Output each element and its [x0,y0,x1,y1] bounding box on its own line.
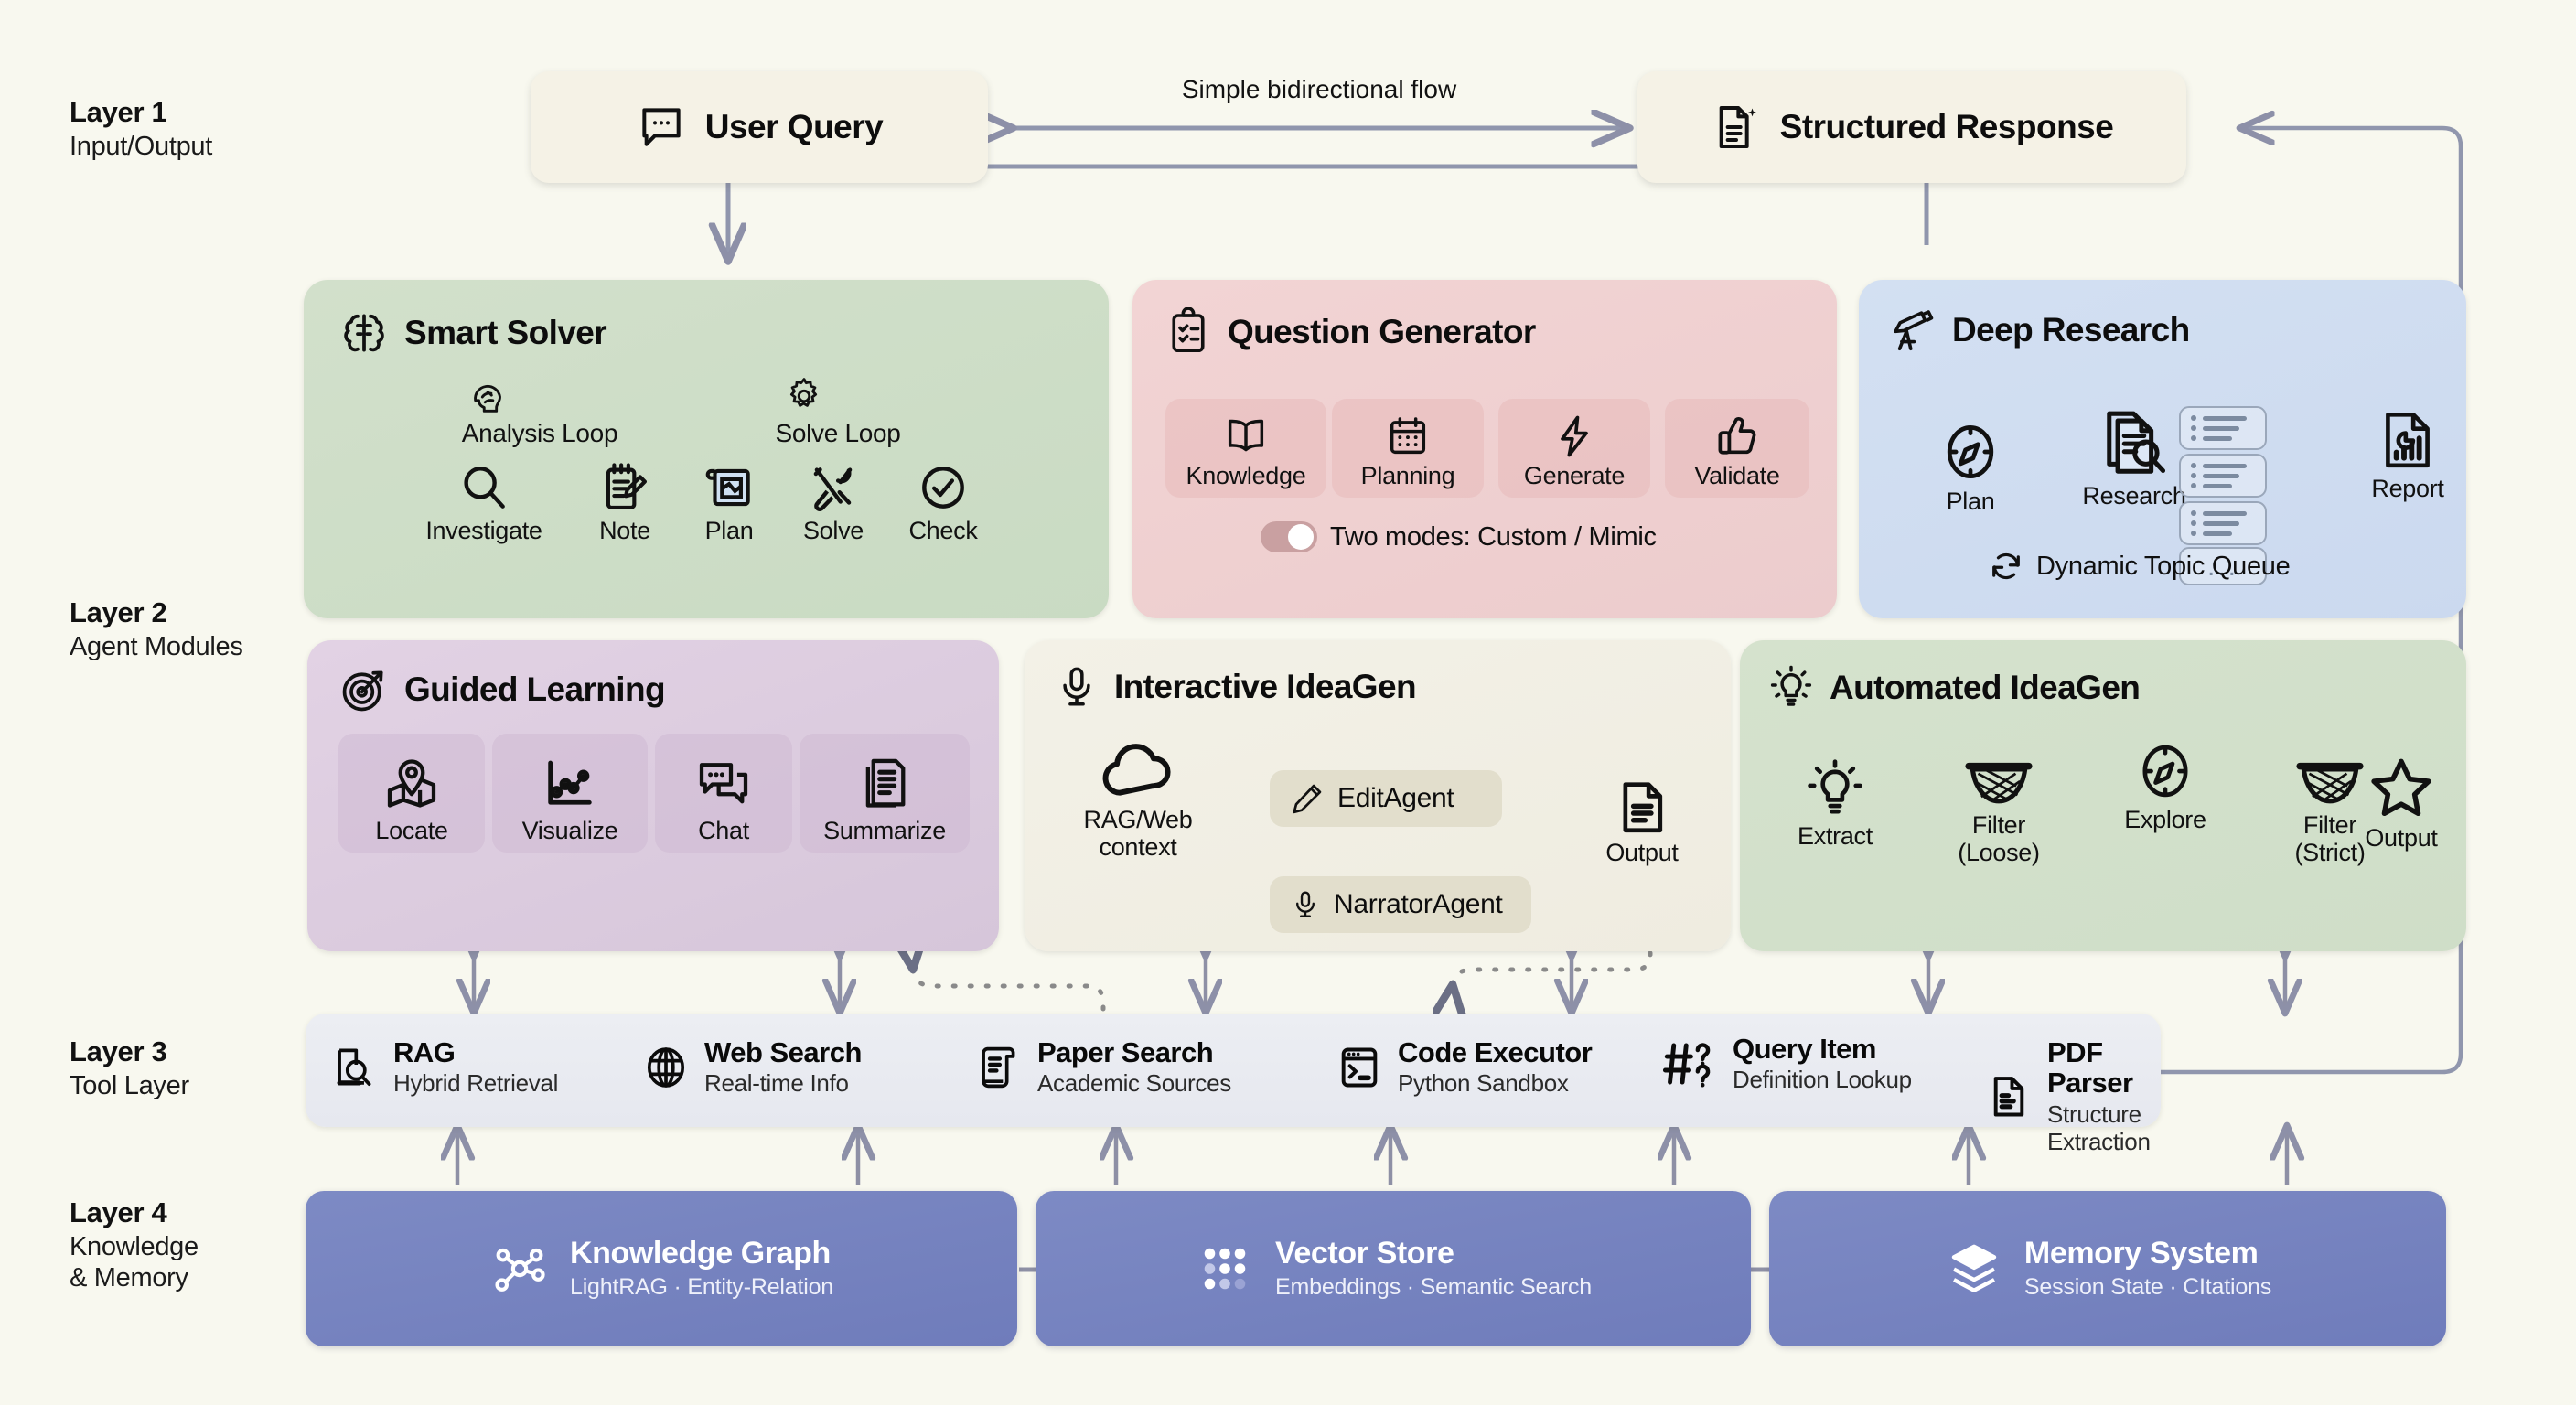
tool-code-executor[interactable]: Code Executor Python Sandbox [1336,1037,1592,1098]
brain-icon [338,307,390,359]
step-label: Research [2082,483,2185,510]
document-sparkle-icon [1711,102,1762,153]
interactive-ideagen-title: Interactive IdeaGen [1114,668,1416,706]
target-dart-icon [338,664,390,715]
step-label: Investigate [425,518,542,545]
agent-narrator[interactable]: NarratorAgent [1270,876,1531,933]
step-label: Explore [2124,807,2206,834]
check-circle-icon [915,459,971,516]
smart-solver-panel[interactable]: Smart Solver Analysis Loop Investigate [304,280,1109,618]
question-generator-header: Question Generator [1164,307,1536,357]
guided-learning-title: Guided Learning [404,670,665,709]
star-icon [2366,752,2437,823]
store-sub: Embeddings · Semantic Search [1275,1274,1592,1301]
smart-solver-header: Smart Solver [338,307,606,359]
cloud-icon [1096,737,1180,805]
layer-3-number: Layer 3 [70,1035,189,1068]
step-label: Extract [1798,823,1873,851]
tool-pdf-parser[interactable]: PDF Parser Structure Extraction [1985,1037,2161,1156]
tool-sub: Real-time Info [704,1070,862,1098]
dot-matrix-icon [1195,1239,1255,1299]
refresh-cycle-icon [1989,549,2023,584]
store-name: Vector Store [1275,1237,1592,1271]
pencil-icon [1290,781,1325,816]
line-chart-icon [541,755,599,813]
guided-learning-header: Guided Learning [338,664,665,715]
automated-ideagen-panel[interactable]: Automated IdeaGen Extract Filter (Lo [1740,640,2466,951]
step-label: Check [908,518,977,545]
topic-queue-card[interactable] [2179,454,2267,498]
notepad-pencil-icon [596,459,653,516]
toggle-switch-icon[interactable] [1261,521,1317,552]
layer-2-number: Layer 2 [70,596,243,629]
head-brain-icon [468,376,510,418]
layer-1-label: Layer 1 Input/Output [70,96,212,162]
telescope-icon [1888,306,1937,355]
step-label: Plan [705,518,754,545]
layer-3-title: Tool Layer [70,1070,189,1101]
iig-source-context[interactable]: RAG/Web context [1056,737,1220,861]
structured-response-label: Structured Response [1780,108,2114,146]
agent-label: NarratorAgent [1334,889,1503,920]
qg-step-generate[interactable]: Generate [1498,399,1650,498]
microphone-icon [1054,664,1100,710]
layer-2-title: Agent Modules [70,631,243,662]
documents-magnifier-icon [2095,402,2173,481]
layers-stack-icon [1944,1239,2004,1299]
documents-icon [855,755,914,813]
compass-icon [2131,737,2199,805]
aig-step-filter-loose[interactable]: Filter (Loose) [1930,754,2067,866]
tool-name: Web Search [704,1037,862,1067]
tool-query-item[interactable]: Query Item Definition Lookup [1661,1034,1912,1094]
layer-4-label: Layer 4 Knowledge & Memory [70,1196,199,1293]
deep-research-header: Deep Research [1888,306,2190,355]
qg-step-planning[interactable]: Planning [1332,399,1484,498]
chat-bubble-icon [636,102,687,153]
tool-sub: Hybrid Retrieval [393,1070,558,1098]
vector-store-box[interactable]: Vector Store Embeddings · Semantic Searc… [1036,1191,1751,1346]
step-label: Planning [1361,462,1455,490]
structured-response-box[interactable]: Structured Response [1637,71,2186,183]
output-label: Output [1605,840,1678,867]
store-name: Knowledge Graph [570,1237,833,1271]
layer-4-number: Layer 4 [70,1196,199,1229]
layer-1-title: Input/Output [70,131,212,162]
layer-4-title: Knowledge & Memory [70,1231,199,1293]
step-label: Summarize [823,817,946,845]
chat-bubbles-icon [694,755,753,813]
topic-queue-card[interactable] [2179,406,2267,450]
solver-step-plan[interactable]: Plan [670,459,789,545]
step-label: Validate [1694,462,1779,490]
compass-icon [1936,417,2005,487]
architecture-diagram: Layer 1 Input/Output Layer 2 Agent Modul… [0,0,2576,1405]
solve-loop-caption: Solve Loop [737,419,939,448]
step-label: Plan [1947,488,1995,516]
tool-name: Paper Search [1037,1037,1231,1067]
store-sub: Session State · CItations [2024,1274,2271,1301]
tool-rag[interactable]: RAG Hybrid Retrieval [331,1037,558,1098]
interactive-ideagen-panel[interactable]: Interactive IdeaGen RAG/Web context Edit… [1025,640,1731,951]
aig-step-explore[interactable]: Explore [2097,737,2234,834]
solver-step-check[interactable]: Check [875,459,1012,545]
magnifier-icon [456,459,512,516]
qg-modes-note[interactable]: Two modes: Custom / Mimic [1261,521,1657,552]
qg-modes-label: Two modes: Custom / Mimic [1330,522,1657,552]
step-label: Chat [698,817,749,845]
globe-icon [642,1044,690,1091]
scroll-icon [975,1044,1023,1091]
solver-step-note[interactable]: Note [565,459,684,545]
bidirectional-flow-label: Simple bidirectional flow [1063,75,1575,104]
step-label: Locate [375,817,447,845]
tool-name: PDF Parser [2047,1037,2161,1099]
report-chart-icon [2374,406,2442,474]
memory-system-box[interactable]: Memory System Session State · CItations [1769,1191,2446,1346]
tool-web-search[interactable]: Web Search Real-time Info [642,1037,862,1098]
step-label: Note [599,518,650,545]
guided-learning-panel[interactable]: Guided Learning Locate [307,640,999,951]
gl-step-chat[interactable]: Chat [655,734,792,853]
lightbulb-idea-icon [1767,664,1815,712]
user-query-label: User Query [705,108,884,146]
solver-step-investigate[interactable]: Investigate [406,459,562,545]
dr-queue-label: Dynamic Topic Queue [2036,552,2290,582]
automated-ideagen-title: Automated IdeaGen [1830,669,2140,707]
clipboard-check-icon [1164,307,1213,357]
agent-edit[interactable]: EditAgent [1270,770,1502,827]
tool-sub: Structure Extraction [2047,1101,2161,1156]
layer-1-number: Layer 1 [70,96,212,129]
gl-step-locate[interactable]: Locate [338,734,485,853]
gear-icon [783,375,825,417]
document-icon [1612,778,1672,838]
question-generator-panel[interactable]: Question Generator Knowledge [1132,280,1837,618]
tool-name: Code Executor [1398,1037,1592,1067]
layer-2-label: Layer 2 Agent Modules [70,596,243,662]
dr-step-plan[interactable]: Plan [1916,417,2025,516]
interactive-ideagen-header: Interactive IdeaGen [1054,664,1416,710]
deep-research-title: Deep Research [1952,311,2190,349]
hash-question-icon [1661,1038,1718,1089]
gl-step-summarize[interactable]: Summarize [800,734,970,853]
node-graph-icon [489,1239,550,1299]
pdf-file-icon [1985,1073,2033,1121]
smart-solver-title: Smart Solver [404,314,606,352]
dr-queue-note: Dynamic Topic Queue [1989,549,2290,584]
analysis-loop-caption: Analysis Loop [439,419,640,448]
sieve-icon [1961,754,2036,810]
terminal-icon [1336,1044,1383,1091]
blueprint-icon [701,459,757,516]
step-label: Output [2365,825,2437,853]
step-label: Knowledge [1186,462,1306,490]
qg-step-knowledge[interactable]: Knowledge [1165,399,1326,498]
lightning-bolt-icon [1551,413,1598,460]
store-sub: LightRAG · Entity-Relation [570,1274,833,1301]
tool-paper-search[interactable]: Paper Search Academic Sources [975,1037,1231,1098]
tool-sub: Python Sandbox [1398,1070,1592,1098]
open-book-icon [1220,413,1272,460]
microphone-icon [1290,889,1321,920]
iig-output[interactable]: Output [1584,778,1700,867]
knowledge-graph-box[interactable]: Knowledge Graph LightRAG · Entity-Relati… [306,1191,1017,1346]
tool-layer-bar[interactable]: RAG Hybrid Retrieval Web Search Real-tim… [306,1014,2161,1127]
agent-label: EditAgent [1337,783,1454,814]
tools-cross-icon [805,459,862,516]
gl-step-visualize[interactable]: Visualize [492,734,648,853]
qg-step-validate[interactable]: Validate [1665,399,1809,498]
tool-sub: Definition Lookup [1733,1067,1912,1094]
map-pin-icon [382,755,441,813]
calendar-icon [1383,413,1433,460]
step-label: Visualize [522,817,618,845]
tool-name: RAG [393,1037,558,1067]
automated-ideagen-header: Automated IdeaGen [1767,664,2140,712]
aig-step-extract[interactable]: Extract [1771,757,1899,851]
step-label: Report [2371,476,2443,503]
layer-3-label: Layer 3 Tool Layer [70,1035,189,1101]
topic-queue-card[interactable] [2179,501,2267,545]
tool-name: Query Item [1733,1034,1912,1064]
step-label: Solve [803,518,864,545]
thumbs-up-icon [1712,413,1762,460]
question-generator-title: Question Generator [1228,313,1536,351]
tool-sub: Academic Sources [1037,1070,1231,1098]
aig-step-output[interactable]: Output [2344,752,2459,853]
store-name: Memory System [2024,1237,2271,1271]
rag-search-icon [331,1044,379,1091]
step-label: Generate [1524,462,1625,490]
dr-step-report[interactable]: Report [2353,406,2463,503]
deep-research-panel[interactable]: Deep Research Plan [1859,280,2466,618]
step-label: Filter (Loose) [1958,812,2039,866]
lightbulb-icon [1803,757,1867,821]
user-query-box[interactable]: User Query [531,71,988,183]
source-label: RAG/Web context [1084,807,1193,861]
